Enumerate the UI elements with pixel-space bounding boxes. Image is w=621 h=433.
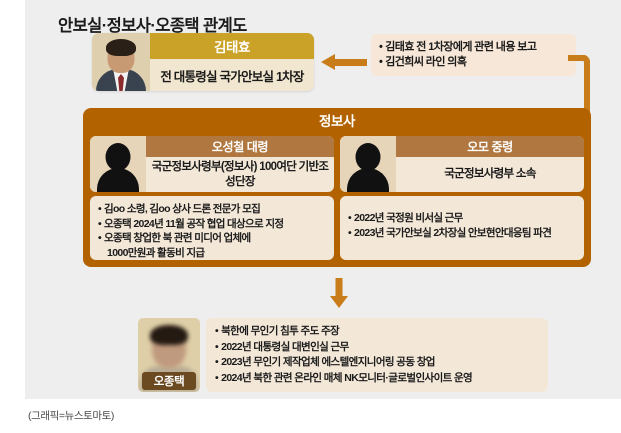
infographic-root: 안보실·정보사·오종택 관계도 김태효 전 대통령실 국가안보실 1차장 김태효… [0, 0, 621, 433]
note-bullet-continuation: 1000만원과 활동비 지급 [98, 246, 326, 261]
arrow-left-head [321, 54, 335, 70]
note-bullet: 북한에 무인기 침투 주도 주장 [215, 324, 540, 340]
person-card-oh-mo: 오모 중령 국군정보사령부 소속 [340, 136, 584, 192]
note-bullet: 김oo 소령, 김oo 상사 드론 전문가 모집 [98, 202, 326, 217]
silhouette-avatar [340, 136, 396, 192]
callout-bullet: 김건희씨 라인 의혹 [379, 55, 568, 70]
arrow-down-shaft [336, 278, 343, 297]
person-name-badge: 오종택 [142, 372, 196, 390]
portrait-hair-shape [150, 325, 188, 345]
silhouette-body-shape [97, 168, 139, 192]
arrow-down-icon [330, 278, 348, 308]
person-name-label: 오모 중령 [396, 136, 584, 157]
group-heading-label: 정보사 [83, 108, 591, 132]
callout-box-top: 김태효 전 1차장에게 관련 내용 보고 김건희씨 라인 의혹 [371, 34, 576, 76]
notes-box-right: 2022년 국정원 비서실 근무 2023년 국가안보실 2차장실 안보현안대응… [340, 196, 584, 260]
group-jeongbosa: 정보사 오성철 대령 국군정보사령부(정보사) 100여단 기반조성단장 오모 … [83, 108, 591, 267]
portrait-photo [92, 33, 150, 91]
silhouette-head-shape [356, 143, 381, 171]
person-card-oh-jong-taek: 오종택 북한에 무인기 침투 주도 주장 2022년 대통령실 대변인실 근무 … [138, 318, 548, 392]
note-bullet: 2022년 대통령실 대변인실 근무 [215, 340, 540, 356]
person-role-label: 국군정보사령부 소속 [396, 157, 584, 192]
person-role-label: 전 대통령실 국가안보실 1차장 [150, 59, 314, 91]
callout-bullet: 김태효 전 1차장에게 관련 내용 보고 [379, 40, 568, 55]
silhouette-body-shape [347, 168, 389, 192]
note-bullet: 2023년 국가안보실 2차장실 안보현안대응팀 파견 [348, 226, 576, 241]
notes-box-left: 김oo 소령, 김oo 상사 드론 전문가 모집 오종택 2024년 11월 공… [90, 196, 334, 260]
arrow-down-head [330, 296, 348, 308]
note-bullet: 2022년 국정원 비서실 근무 [348, 211, 576, 226]
infographic-panel: 안보실·정보사·오종택 관계도 김태효 전 대통령실 국가안보실 1차장 김태효… [25, 0, 621, 399]
person-card-kim-tae-hyo: 김태효 전 대통령실 국가안보실 1차장 [92, 33, 314, 91]
note-bullet: 2024년 북한 관련 온라인 매체 NK모니터·글로벌인사이트 운영 [215, 371, 540, 387]
person-card-oh-seong-cheol: 오성철 대령 국군정보사령부(정보사) 100여단 기반조성단장 [90, 136, 334, 192]
person-role-label: 국군정보사령부(정보사) 100여단 기반조성단장 [146, 157, 334, 192]
blurred-portrait-photo: 오종택 [138, 318, 200, 392]
person-name-label: 김태효 [150, 33, 314, 59]
person-name-label: 오성철 대령 [146, 136, 334, 157]
arrow-left-icon [321, 54, 367, 70]
notes-box-bottom: 북한에 무인기 침투 주도 주장 2022년 대통령실 대변인실 근무 2023… [206, 318, 548, 392]
elbow-corner-segment [578, 55, 590, 67]
silhouette-head-shape [106, 143, 131, 171]
arrow-left-shaft [333, 59, 367, 66]
portrait-hair-shape [106, 39, 136, 56]
silhouette-avatar [90, 136, 146, 192]
note-bullet: 오종택 창업한 북 관련 미디어 업체에 [98, 231, 326, 246]
note-bullet: 2023년 무인기 제작업체 에스텔엔지니어링 공동 창업 [215, 355, 540, 371]
graphic-credit: (그래픽=뉴스토마토) [28, 408, 114, 423]
note-bullet: 오종택 2024년 11월 공작 협업 대상으로 지정 [98, 217, 326, 232]
